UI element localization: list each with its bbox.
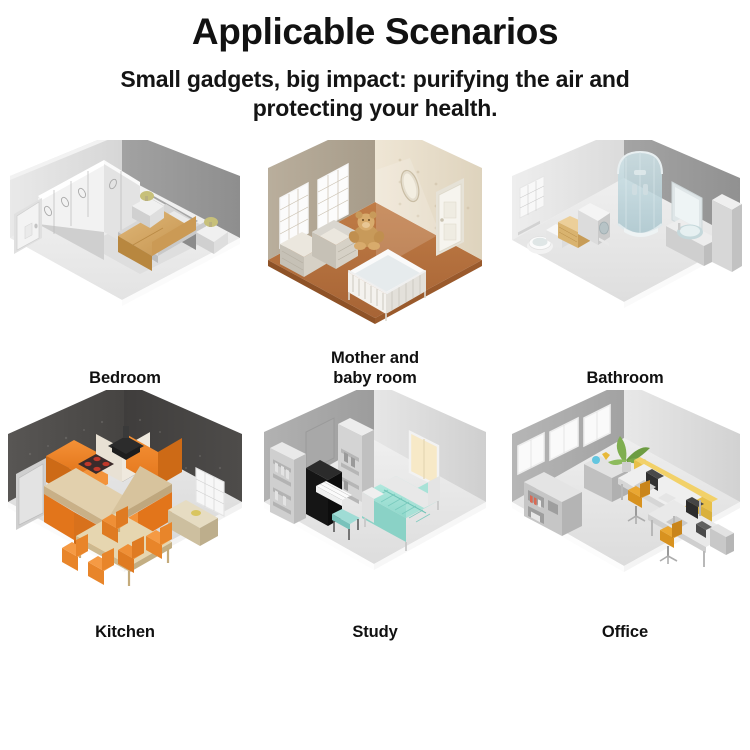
bathroom-illustration bbox=[500, 140, 750, 340]
baby-room-illustration bbox=[250, 140, 500, 340]
scenario-card-kitchen[interactable]: Kitchen bbox=[0, 390, 250, 640]
page-title: Applicable Scenarios bbox=[0, 12, 750, 52]
page-subtitle: Small gadgets, big impact: purifying the… bbox=[95, 65, 655, 124]
header: Applicable Scenarios Small gadgets, big … bbox=[0, 0, 750, 124]
study-illustration bbox=[250, 390, 500, 600]
bedroom-illustration bbox=[0, 140, 250, 340]
scenario-label-bathroom: Bathroom bbox=[500, 368, 750, 388]
scenario-label-bedroom: Bedroom bbox=[0, 368, 250, 388]
scenario-label-baby-room: Mother and baby room bbox=[250, 348, 500, 388]
scenario-card-baby-room[interactable]: Mother and baby room bbox=[250, 140, 500, 390]
scenario-label-study: Study bbox=[250, 622, 500, 642]
scenario-card-bathroom[interactable]: Bathroom bbox=[500, 140, 750, 390]
scenario-grid: Bedroom bbox=[0, 140, 750, 680]
infographic-page: Applicable Scenarios Small gadgets, big … bbox=[0, 0, 750, 750]
scenario-label-line-1: Mother and bbox=[250, 348, 500, 368]
scenario-label-kitchen: Kitchen bbox=[0, 622, 250, 642]
scenario-card-bedroom[interactable]: Bedroom bbox=[0, 140, 250, 390]
kitchen-illustration bbox=[0, 390, 250, 600]
scenario-label-office: Office bbox=[500, 622, 750, 642]
office-illustration bbox=[500, 390, 750, 600]
scenario-card-office[interactable]: Office bbox=[500, 390, 750, 640]
scenario-label-line-2: baby room bbox=[250, 368, 500, 388]
scenario-card-study[interactable]: Study bbox=[250, 390, 500, 640]
